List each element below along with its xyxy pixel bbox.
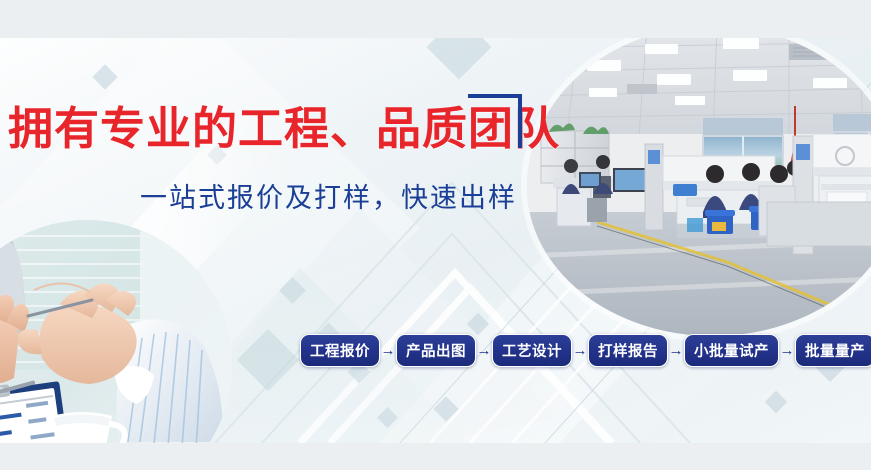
flow-step-3-label: 工艺设计 (502, 340, 562, 361)
page-subtitle: 一站式报价及打样，快速出样 (140, 185, 517, 212)
flow-arrow-5-icon: → (779, 341, 795, 361)
office-workstations-photo (527, 38, 871, 336)
flow-step-6[interactable]: 批量量产 (795, 334, 871, 367)
business-meeting-photo (0, 220, 232, 443)
top-spacer-band (0, 0, 871, 38)
flow-step-2-label: 产品出图 (406, 340, 466, 361)
flow-step-3[interactable]: 工艺设计 (492, 334, 572, 367)
flow-step-4[interactable]: 打样报告 (588, 334, 668, 367)
flow-step-1-label: 工程报价 (310, 340, 370, 361)
process-flow: 工程报价 → 产品出图 → 工艺设计 → 打样报告 → 小批量试产 → 批量量产 (300, 334, 871, 367)
promo-banner: 拥有专业的工程、品质团队 一站式报价及打样，快速出样 工程报价 → 产品出图 →… (0, 0, 871, 470)
bottom-spacer-band (0, 443, 871, 470)
flow-arrow-3-icon: → (572, 341, 588, 361)
flow-step-1[interactable]: 工程报价 (300, 334, 380, 367)
flow-step-5-label: 小批量试产 (694, 340, 769, 361)
flow-step-5[interactable]: 小批量试产 (684, 334, 779, 367)
flow-step-4-label: 打样报告 (598, 340, 658, 361)
banner-artwork-stage: 拥有专业的工程、品质团队 一站式报价及打样，快速出样 工程报价 → 产品出图 →… (0, 38, 871, 443)
meeting-scene-illustration (0, 220, 232, 443)
corner-bracket-decor (468, 94, 522, 148)
office-scene-illustration (527, 38, 871, 336)
flow-step-6-label: 批量量产 (805, 340, 865, 361)
flow-arrow-4-icon: → (668, 341, 684, 361)
flow-arrow-1-icon: → (380, 341, 396, 361)
flow-step-2[interactable]: 产品出图 (396, 334, 476, 367)
flow-arrow-2-icon: → (476, 341, 492, 361)
